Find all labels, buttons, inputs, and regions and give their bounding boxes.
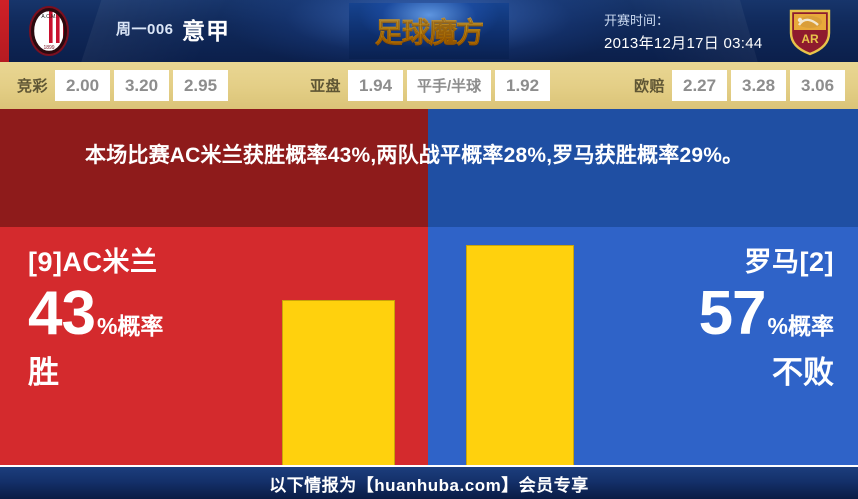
- home-outcome-label: 胜: [28, 353, 278, 393]
- away-percent-value: 57: [699, 281, 766, 347]
- odds-cell[interactable]: 3.20: [114, 70, 169, 101]
- odds-group-label: 亚盘: [310, 75, 341, 96]
- odds-cell[interactable]: 3.28: [731, 70, 786, 101]
- odds-cell[interactable]: 1.92: [495, 70, 550, 101]
- odds-cell[interactable]: 1.94: [348, 70, 403, 101]
- home-percent-value: 43: [28, 281, 95, 347]
- odds-group-oupei: 欧赔 2.27 3.28 3.06: [634, 70, 849, 101]
- away-team-block: 罗马[2] 57 %概率 不败: [574, 245, 834, 393]
- summary-band: 本场比赛AC米兰获胜概率43%,两队战平概率28%,罗马获胜概率29%。: [0, 109, 858, 227]
- as-roma-crest-icon: AR: [784, 5, 836, 57]
- odds-cell[interactable]: 2.27: [672, 70, 727, 101]
- odds-cell[interactable]: 3.06: [790, 70, 845, 101]
- odds-group-jingcai: 竞彩 2.00 3.20 2.95: [17, 70, 232, 101]
- odds-group-yapan: 亚盘 1.94 平手/半球 1.92: [310, 70, 554, 101]
- kickoff-datetime: 2013年12月17日 03:44: [604, 32, 763, 53]
- home-team-block: [9]AC米兰 43 %概率 胜: [28, 245, 278, 393]
- summary-text: 本场比赛AC米兰获胜概率43%,两队战平概率28%,罗马获胜概率29%。: [85, 139, 785, 172]
- brand-logo-text: 足球魔方: [375, 11, 483, 51]
- kickoff-label: 开赛时间：: [604, 10, 669, 29]
- footer-text: 以下情报为【huanhuba.com】会员专享: [269, 471, 588, 496]
- header-bar: A.C.M. 1899 AR 周一006 意甲 足球魔方 开赛时间： 2013年…: [0, 0, 858, 62]
- ac-milan-crest-icon: A.C.M. 1899: [23, 5, 75, 57]
- odds-group-label: 竞彩: [17, 75, 48, 96]
- svg-text:AR: AR: [801, 32, 819, 46]
- header-left-red-stripe: [0, 0, 9, 62]
- header-diagonal-sheen-left: [72, 0, 278, 62]
- odds-cell[interactable]: 2.00: [55, 70, 110, 101]
- probability-chart: [9]AC米兰 43 %概率 胜 罗马[2] 57 %概率 不败: [0, 227, 858, 465]
- away-team-name: 罗马[2]: [574, 245, 834, 279]
- away-probability-bar: [466, 245, 574, 465]
- league-name: 意甲: [182, 12, 230, 46]
- away-outcome-label: 不败: [574, 353, 834, 393]
- odds-cell-handicap[interactable]: 平手/半球: [407, 70, 491, 101]
- home-percent-suffix: %概率: [97, 307, 163, 341]
- footer-bar: 以下情报为【huanhuba.com】会员专享: [0, 465, 858, 499]
- home-team-name: [9]AC米兰: [28, 245, 278, 279]
- away-percent-row: 57 %概率: [574, 281, 834, 347]
- away-percent-suffix: %概率: [768, 307, 834, 341]
- odds-cell[interactable]: 2.95: [173, 70, 228, 101]
- home-percent-row: 43 %概率: [28, 281, 278, 347]
- svg-text:A.C.M.: A.C.M.: [41, 14, 56, 20]
- home-probability-bar: [282, 300, 395, 465]
- brand-logo: 足球魔方: [349, 3, 509, 59]
- odds-group-label: 欧赔: [634, 75, 665, 96]
- match-number: 周一006: [116, 18, 174, 39]
- odds-bar: 竞彩 2.00 3.20 2.95 亚盘 1.94 平手/半球 1.92 欧赔 …: [0, 62, 858, 109]
- match-preview-graphic: A.C.M. 1899 AR 周一006 意甲 足球魔方 开赛时间： 2013年…: [0, 0, 858, 499]
